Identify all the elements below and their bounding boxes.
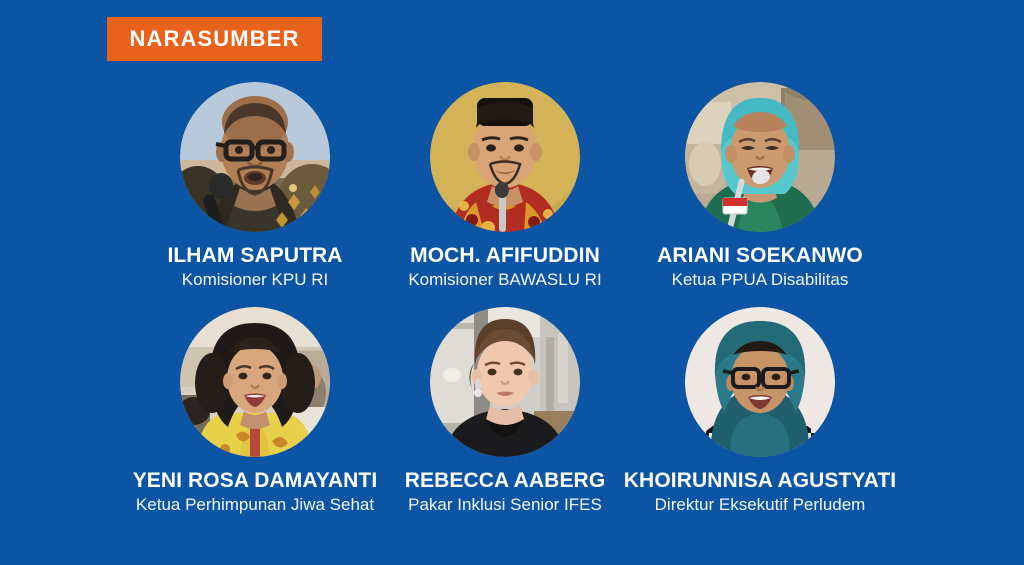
speaker-photo-khoirunnisa-agustyati bbox=[685, 307, 835, 457]
speaker-row-2: YENI ROSA DAMAYANTI Ketua Perhimpunan Ji… bbox=[0, 307, 1024, 531]
speaker-name: ARIANI SOEKANWO bbox=[610, 244, 910, 268]
speaker-photo-ariani-soekanwo bbox=[685, 82, 835, 232]
speaker-role: Ketua PPUA Disabilitas bbox=[610, 270, 910, 290]
narasumber-badge-label: NARASUMBER bbox=[130, 28, 300, 50]
speaker-role: Direktur Eksekutif Perludem bbox=[610, 495, 910, 515]
speaker-photo-ilham-saputra bbox=[180, 82, 330, 232]
speaker-photo-yeni-rosa-damayanti bbox=[180, 307, 330, 457]
speaker-photo-rebecca-aaberg bbox=[430, 307, 580, 457]
header-badge-row: NARASUMBER bbox=[0, 17, 1024, 61]
speaker-card-khoirunnisa-agustyati: KHOIRUNNISA AGUSTYATI Direktur Eksekutif… bbox=[610, 307, 910, 516]
speaker-grid: ILHAM SAPUTRA Komisioner KPU RI bbox=[0, 82, 1024, 531]
speaker-row-1: ILHAM SAPUTRA Komisioner KPU RI bbox=[0, 82, 1024, 306]
slide-root: NARASUMBER bbox=[0, 0, 1024, 565]
narasumber-badge: NARASUMBER bbox=[107, 17, 322, 61]
speaker-card-ariani-soekanwo: ARIANI SOEKANWO Ketua PPUA Disabilitas bbox=[610, 82, 910, 291]
speaker-photo-moch-afifuddin bbox=[430, 82, 580, 232]
speaker-name: KHOIRUNNISA AGUSTYATI bbox=[610, 469, 910, 493]
